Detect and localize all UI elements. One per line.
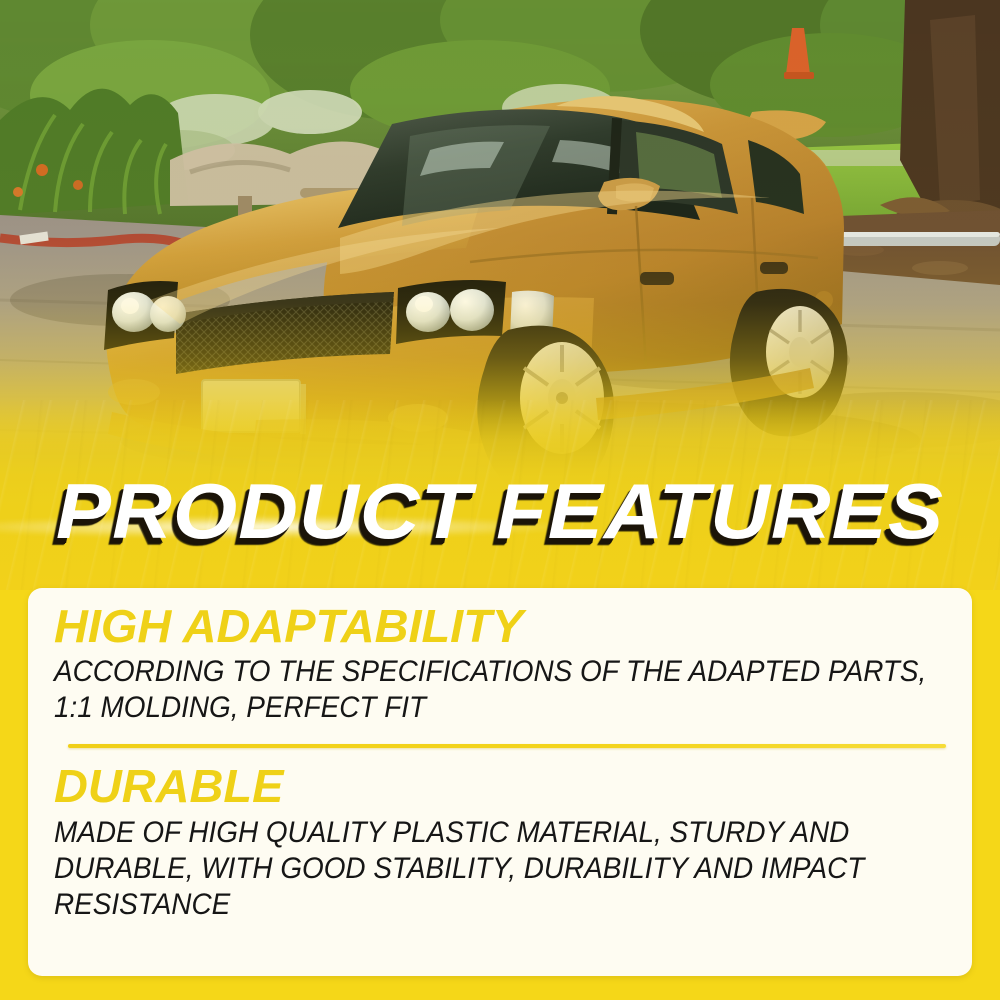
- feature-heading: HIGH ADAPTABILITY: [54, 602, 968, 650]
- features-panel: HIGH ADAPTABILITY ACCORDING TO THE SPECI…: [28, 588, 972, 976]
- feature-description: MADE OF HIGH QUALITY PLASTIC MATERIAL, S…: [54, 815, 946, 923]
- page-title: PRODUCT FEATURES: [0, 474, 1000, 549]
- product-features-poster: PRODUCT FEATURES HIGH ADAPTABILITY ACCOR…: [0, 0, 1000, 1000]
- product-hero-photo: [0, 0, 1000, 490]
- feature-divider: [68, 744, 946, 748]
- feature-description: ACCORDING TO THE SPECIFICATIONS OF THE A…: [54, 654, 946, 726]
- car-scene-illustration: [0, 0, 1000, 490]
- feature-item-high-adaptability: HIGH ADAPTABILITY ACCORDING TO THE SPECI…: [54, 602, 950, 726]
- feature-heading: DURABLE: [54, 762, 968, 810]
- feature-item-durable: DURABLE MADE OF HIGH QUALITY PLASTIC MAT…: [54, 762, 950, 922]
